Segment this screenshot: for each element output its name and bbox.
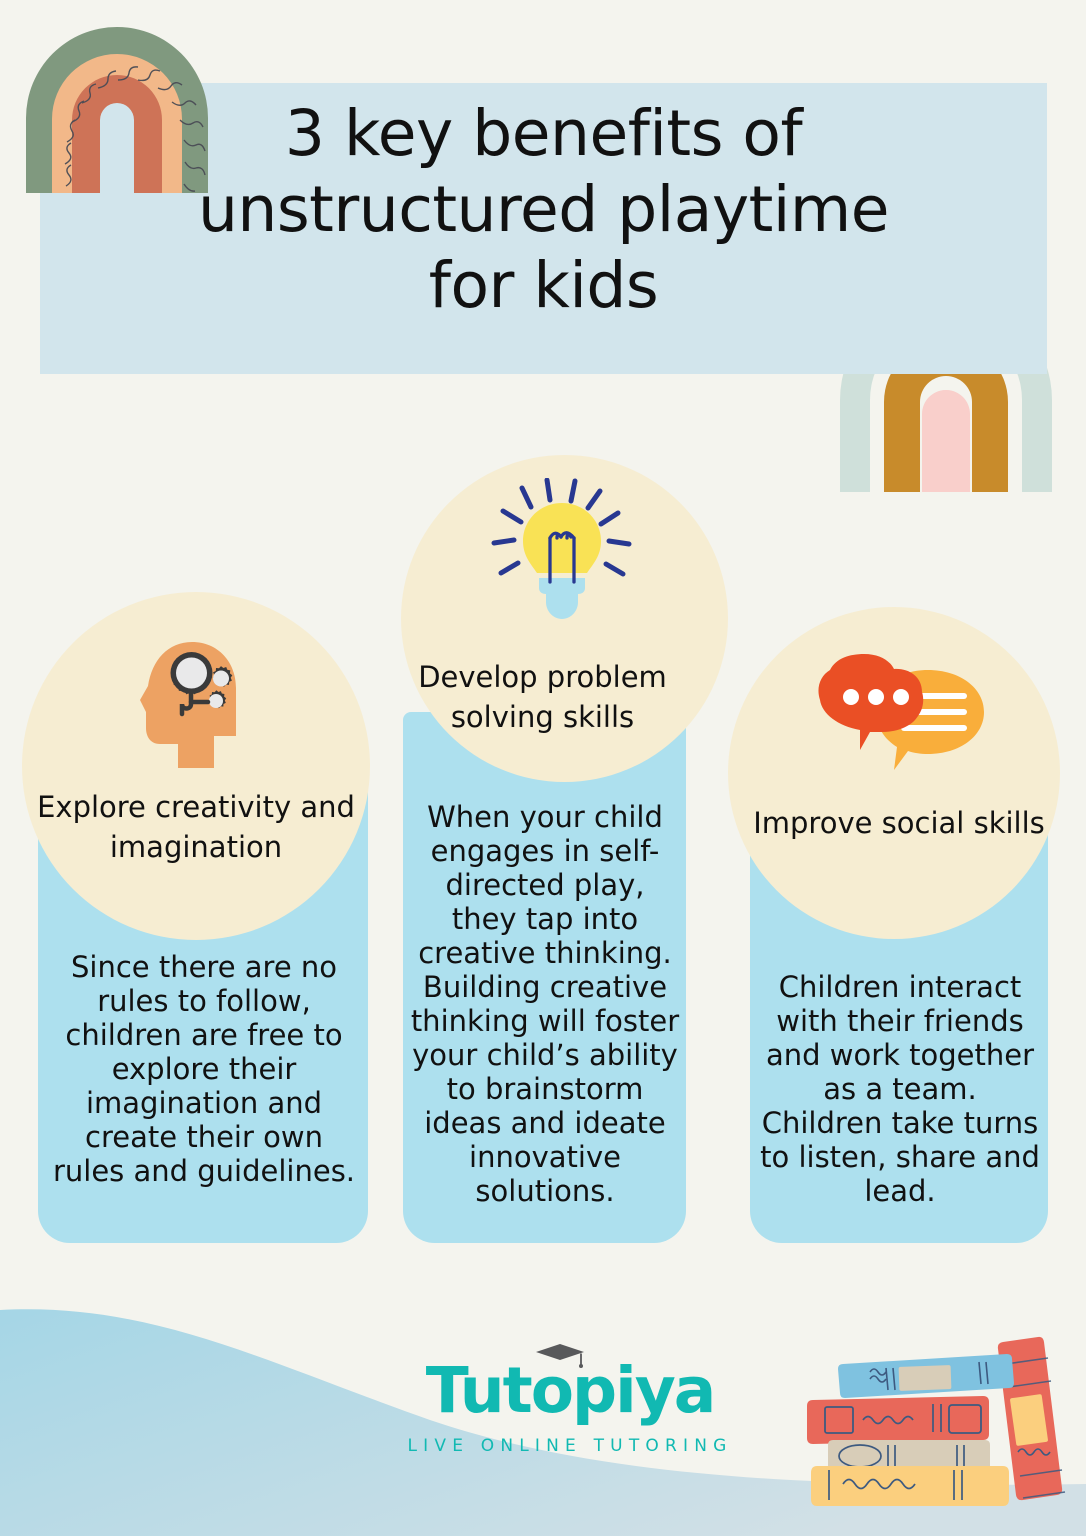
- brand-logo: Tutopiya LIVE ONLINE TUTORING: [400, 1356, 740, 1456]
- speech-bubbles-icon: [812, 650, 998, 778]
- infographic-poster: 3 key benefits of unstructured playtime …: [0, 0, 1086, 1536]
- card-body-2: When your child engages in self-directed…: [410, 800, 680, 1208]
- title-line-1: 3 key benefits of: [40, 96, 1047, 172]
- book-stack-icon: [785, 1312, 1070, 1536]
- logo-tagline: LIVE ONLINE TUTORING: [400, 1436, 740, 1456]
- card-body-3: Children interact with their friends and…: [760, 970, 1040, 1208]
- card-title-1: Explore creativity and imagination: [32, 787, 360, 867]
- title-line-3: for kids: [40, 248, 1047, 324]
- lightbulb-icon: [483, 478, 641, 630]
- card-title-3: Improve social skills: [740, 803, 1058, 843]
- graduation-cap-icon: [535, 1343, 585, 1369]
- head-with-gears-icon: [140, 640, 252, 770]
- card-body-1: Since there are no rules to follow, chil…: [48, 950, 360, 1188]
- card-title-2: Develop problem solving skills: [402, 657, 683, 737]
- title-line-2: unstructured playtime: [40, 172, 1047, 248]
- page-title: 3 key benefits of unstructured playtime …: [40, 96, 1047, 324]
